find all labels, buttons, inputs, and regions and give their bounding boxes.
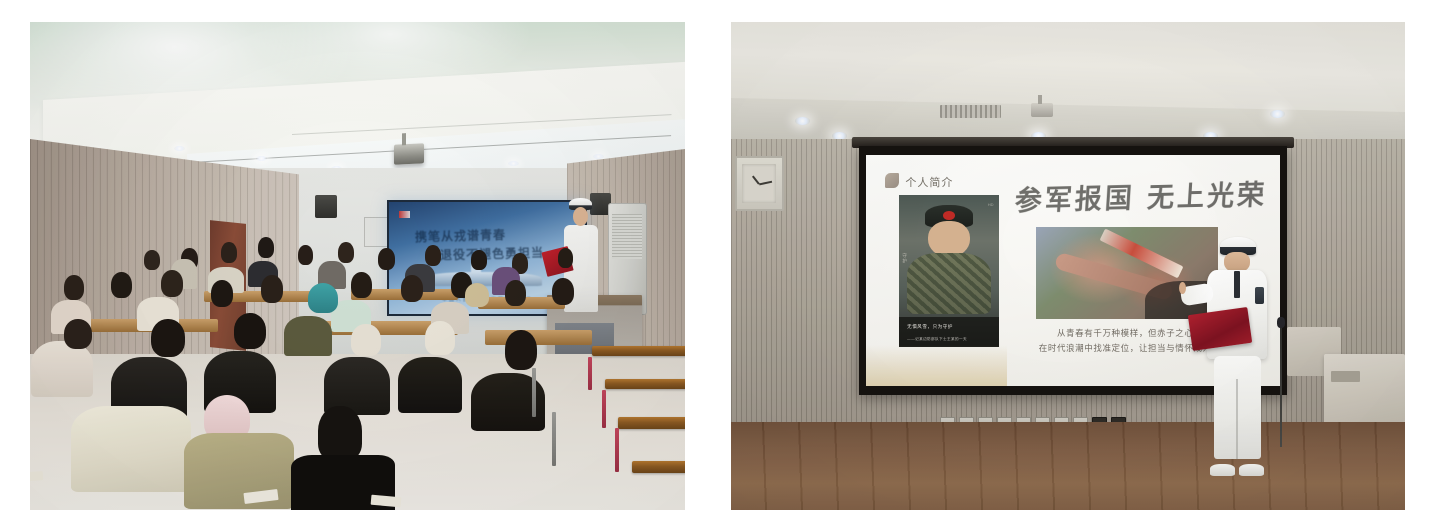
notebook	[30, 471, 43, 482]
lecture-hall-audience-photo[interactable]: 携笔从戎谱青春 退役不褪色勇担当 中国人民解放军海军招生宣传	[30, 22, 685, 510]
portrait-side-text: 守护	[902, 253, 908, 264]
audience-head	[161, 270, 183, 297]
audience-body	[398, 357, 462, 413]
seat-frame	[602, 390, 606, 428]
photo-gallery: 携笔从戎谱青春 退役不褪色勇担当 中国人民解放军海军招生宣传	[0, 0, 1440, 530]
officer-tie	[1234, 271, 1240, 297]
audience-head	[144, 250, 160, 270]
seat-frame	[588, 357, 592, 390]
desk-row	[618, 417, 685, 428]
desk-row	[592, 346, 685, 356]
officer-hand	[1179, 282, 1186, 294]
downlight-icon	[1270, 110, 1285, 118]
naval-officer-speaker	[1206, 237, 1268, 476]
audience-head	[505, 330, 537, 370]
portrait-caption-line-2: ——记某边防部队下士王某的一天	[907, 337, 967, 342]
audience-head	[111, 272, 132, 298]
officer-shoe	[1210, 464, 1235, 476]
audience-head	[64, 275, 84, 300]
slide-secondary-photo	[1036, 227, 1218, 319]
audience-body	[284, 316, 332, 356]
audience-head-beanie	[308, 283, 338, 313]
presentation-slide-photo[interactable]: 个人简介 HD 守护 无惧风雪，只为守护 ——记某边防部队下士王某的一天 参军报…	[731, 22, 1405, 510]
officer-trousers	[1214, 356, 1261, 459]
audience-head-beanie	[465, 283, 489, 307]
wall-clock	[735, 156, 783, 211]
microphone-stand	[1280, 325, 1282, 447]
officer-shoulder-patch	[1255, 287, 1265, 304]
air-vent	[940, 105, 1001, 118]
seat-frame	[615, 428, 619, 472]
audience-seating	[30, 237, 672, 510]
audience-head	[471, 250, 487, 270]
audience-head	[351, 272, 372, 298]
slide-portrait-photo: HD 守护 无惧风雪，只为守护 ——记某边防部队下士王某的一天	[899, 195, 998, 347]
audience-head	[338, 242, 354, 263]
slide-section-label: 个人简介	[905, 174, 953, 190]
audience-head	[258, 237, 274, 258]
audience-head	[261, 275, 283, 303]
audience-head	[558, 248, 573, 268]
audience-head	[221, 242, 237, 263]
audience-head	[425, 245, 441, 266]
audience-head-hood	[425, 321, 455, 355]
audience-head	[234, 313, 266, 349]
audience-head	[64, 319, 92, 349]
ceiling-projector	[1031, 103, 1053, 117]
audience-head-front	[318, 406, 362, 460]
section-marker-icon	[885, 173, 899, 188]
slide-decor-strip	[866, 345, 1007, 387]
officer-shoe	[1239, 464, 1264, 476]
soldier-torso	[907, 253, 990, 314]
seat-frame	[532, 368, 536, 417]
ceiling-projector	[394, 143, 424, 165]
portrait-corner-text: HD	[988, 202, 994, 207]
desk-row	[485, 330, 592, 345]
audience-head	[552, 278, 574, 305]
desk-row	[605, 379, 685, 389]
slide-headline: 参军报国 无上光荣	[1014, 173, 1265, 218]
audience-head	[505, 280, 526, 306]
clock-minute-hand	[759, 180, 772, 184]
audience-head	[211, 280, 233, 307]
stage-floor	[731, 422, 1405, 510]
navy-logo-icon	[399, 211, 410, 218]
seat-frame	[552, 412, 556, 467]
desk-row	[632, 461, 685, 474]
audience-head	[378, 248, 395, 270]
wall-speaker-icon	[315, 195, 337, 217]
audience-body-front	[71, 406, 191, 492]
audience-head-hood	[351, 324, 381, 356]
audience-head	[298, 245, 313, 265]
audience-body	[31, 341, 93, 397]
soldier-face	[928, 221, 970, 258]
portrait-caption-line-1: 无惧风雪，只为守护	[907, 324, 953, 330]
audience-head	[151, 319, 185, 357]
audience-head	[401, 275, 423, 302]
clock-face	[742, 164, 776, 203]
